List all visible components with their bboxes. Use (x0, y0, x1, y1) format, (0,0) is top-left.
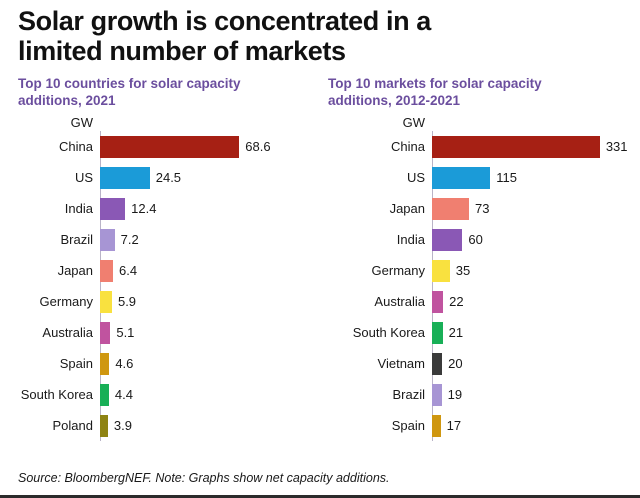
bar-wrap: 12.4 (100, 198, 320, 220)
bar-row: China68.6 (18, 131, 320, 162)
bar-wrap: 20 (432, 353, 640, 375)
bar-wrap: 4.4 (100, 384, 320, 406)
bar (100, 291, 112, 313)
category-label: Australia (18, 325, 100, 340)
unit-row-left: GW (18, 112, 320, 130)
bar-value-label: 17 (441, 418, 461, 433)
category-label: Spain (18, 356, 100, 371)
bar-value-label: 20 (442, 356, 462, 371)
bar-row: US115 (328, 162, 640, 193)
bar-value-label: 68.6 (239, 139, 270, 154)
bar-rows-left: China68.6US24.5India12.4Brazil7.2Japan6.… (18, 131, 320, 441)
bar (432, 322, 443, 344)
category-label: Germany (328, 263, 432, 278)
bar (432, 167, 490, 189)
bar (432, 260, 450, 282)
bar (432, 291, 443, 313)
bar-row: US24.5 (18, 162, 320, 193)
bar-row: Germany35 (328, 255, 640, 286)
bar (100, 260, 113, 282)
bar (432, 136, 600, 158)
category-label: India (328, 232, 432, 247)
bar-wrap: 21 (432, 322, 640, 344)
category-label: South Korea (18, 387, 100, 402)
bar-value-label: 5.1 (110, 325, 134, 340)
bar-value-label: 60 (462, 232, 482, 247)
bar-value-label: 21 (443, 325, 463, 340)
bar-wrap: 5.1 (100, 322, 320, 344)
bar (100, 136, 239, 158)
chart-subtitle-left: Top 10 countries for solar capacity addi… (18, 76, 320, 110)
unit-label-left: GW (18, 115, 100, 130)
category-label: US (328, 170, 432, 185)
category-label: China (18, 139, 100, 154)
bar-wrap: 19 (432, 384, 640, 406)
category-label: Australia (328, 294, 432, 309)
bar-row: Australia5.1 (18, 317, 320, 348)
bar-rows-right: China331US115Japan73India60Germany35Aust… (328, 131, 640, 441)
bar-wrap: 4.6 (100, 353, 320, 375)
category-label: US (18, 170, 100, 185)
unit-row-right: GW (328, 112, 640, 130)
bar-value-label: 115 (490, 170, 517, 185)
bar-value-label: 4.6 (109, 356, 133, 371)
bar-value-label: 5.9 (112, 294, 136, 309)
category-label: Japan (18, 263, 100, 278)
category-label: Vietnam (328, 356, 432, 371)
chart-subtitle-right: Top 10 markets for solar capacity additi… (328, 76, 640, 110)
category-label: South Korea (328, 325, 432, 340)
category-label: Brazil (18, 232, 100, 247)
bar-wrap: 331 (432, 136, 640, 158)
category-label: Japan (328, 201, 432, 216)
category-label: India (18, 201, 100, 216)
bar (100, 415, 108, 437)
bar-wrap: 3.9 (100, 415, 320, 437)
bar-row: Spain4.6 (18, 348, 320, 379)
page-title: Solar growth is concentrated in a limite… (18, 6, 624, 66)
bar (100, 229, 115, 251)
bar-wrap: 6.4 (100, 260, 320, 282)
bar-value-label: 331 (600, 139, 628, 154)
bar-row: Germany5.9 (18, 286, 320, 317)
bar-row: Brazil7.2 (18, 224, 320, 255)
charts-container: Top 10 countries for solar capacity addi… (0, 76, 640, 441)
bar-row: South Korea21 (328, 317, 640, 348)
chart-panel-left: Top 10 countries for solar capacity addi… (0, 76, 320, 441)
bar (432, 415, 441, 437)
category-label: Brazil (328, 387, 432, 402)
bar (100, 167, 150, 189)
bar-row: Vietnam20 (328, 348, 640, 379)
bar-wrap: 24.5 (100, 167, 320, 189)
bar-value-label: 7.2 (115, 232, 139, 247)
bar (432, 384, 442, 406)
bar-value-label: 6.4 (113, 263, 137, 278)
bar-wrap: 73 (432, 198, 640, 220)
bar-value-label: 35 (450, 263, 470, 278)
bar-wrap: 5.9 (100, 291, 320, 313)
bar-row: Spain17 (328, 410, 640, 441)
bar-row: India12.4 (18, 193, 320, 224)
category-label: China (328, 139, 432, 154)
category-label: Spain (328, 418, 432, 433)
bar (432, 198, 469, 220)
bar-value-label: 22 (443, 294, 463, 309)
chart-page: Solar growth is concentrated in a limite… (0, 0, 640, 498)
bar-wrap: 115 (432, 167, 640, 189)
bar-row: Brazil19 (328, 379, 640, 410)
bar-value-label: 4.4 (109, 387, 133, 402)
bar-row: Poland3.9 (18, 410, 320, 441)
bar-row: South Korea4.4 (18, 379, 320, 410)
bar (100, 384, 109, 406)
bar-wrap: 60 (432, 229, 640, 251)
bar (432, 229, 462, 251)
bar-value-label: 24.5 (150, 170, 181, 185)
bar-row: Japan6.4 (18, 255, 320, 286)
bar-row: India60 (328, 224, 640, 255)
bar (100, 198, 125, 220)
unit-label-right: GW (328, 115, 432, 130)
bar-value-label: 19 (442, 387, 462, 402)
bar-row: China331 (328, 131, 640, 162)
bar-value-label: 12.4 (125, 201, 156, 216)
bar (432, 353, 442, 375)
bar-value-label: 3.9 (108, 418, 132, 433)
bar-value-label: 73 (469, 201, 489, 216)
bar-wrap: 17 (432, 415, 640, 437)
bar-row: Australia22 (328, 286, 640, 317)
bar (100, 353, 109, 375)
bar-wrap: 68.6 (100, 136, 320, 158)
bar-row: Japan73 (328, 193, 640, 224)
source-note: Source: BloombergNEF. Note: Graphs show … (18, 471, 390, 485)
bar-wrap: 35 (432, 260, 640, 282)
chart-panel-right: Top 10 markets for solar capacity additi… (320, 76, 640, 441)
title-block: Solar growth is concentrated in a limite… (0, 0, 640, 66)
bar (100, 322, 110, 344)
bar-wrap: 7.2 (100, 229, 320, 251)
category-label: Germany (18, 294, 100, 309)
bar-wrap: 22 (432, 291, 640, 313)
category-label: Poland (18, 418, 100, 433)
